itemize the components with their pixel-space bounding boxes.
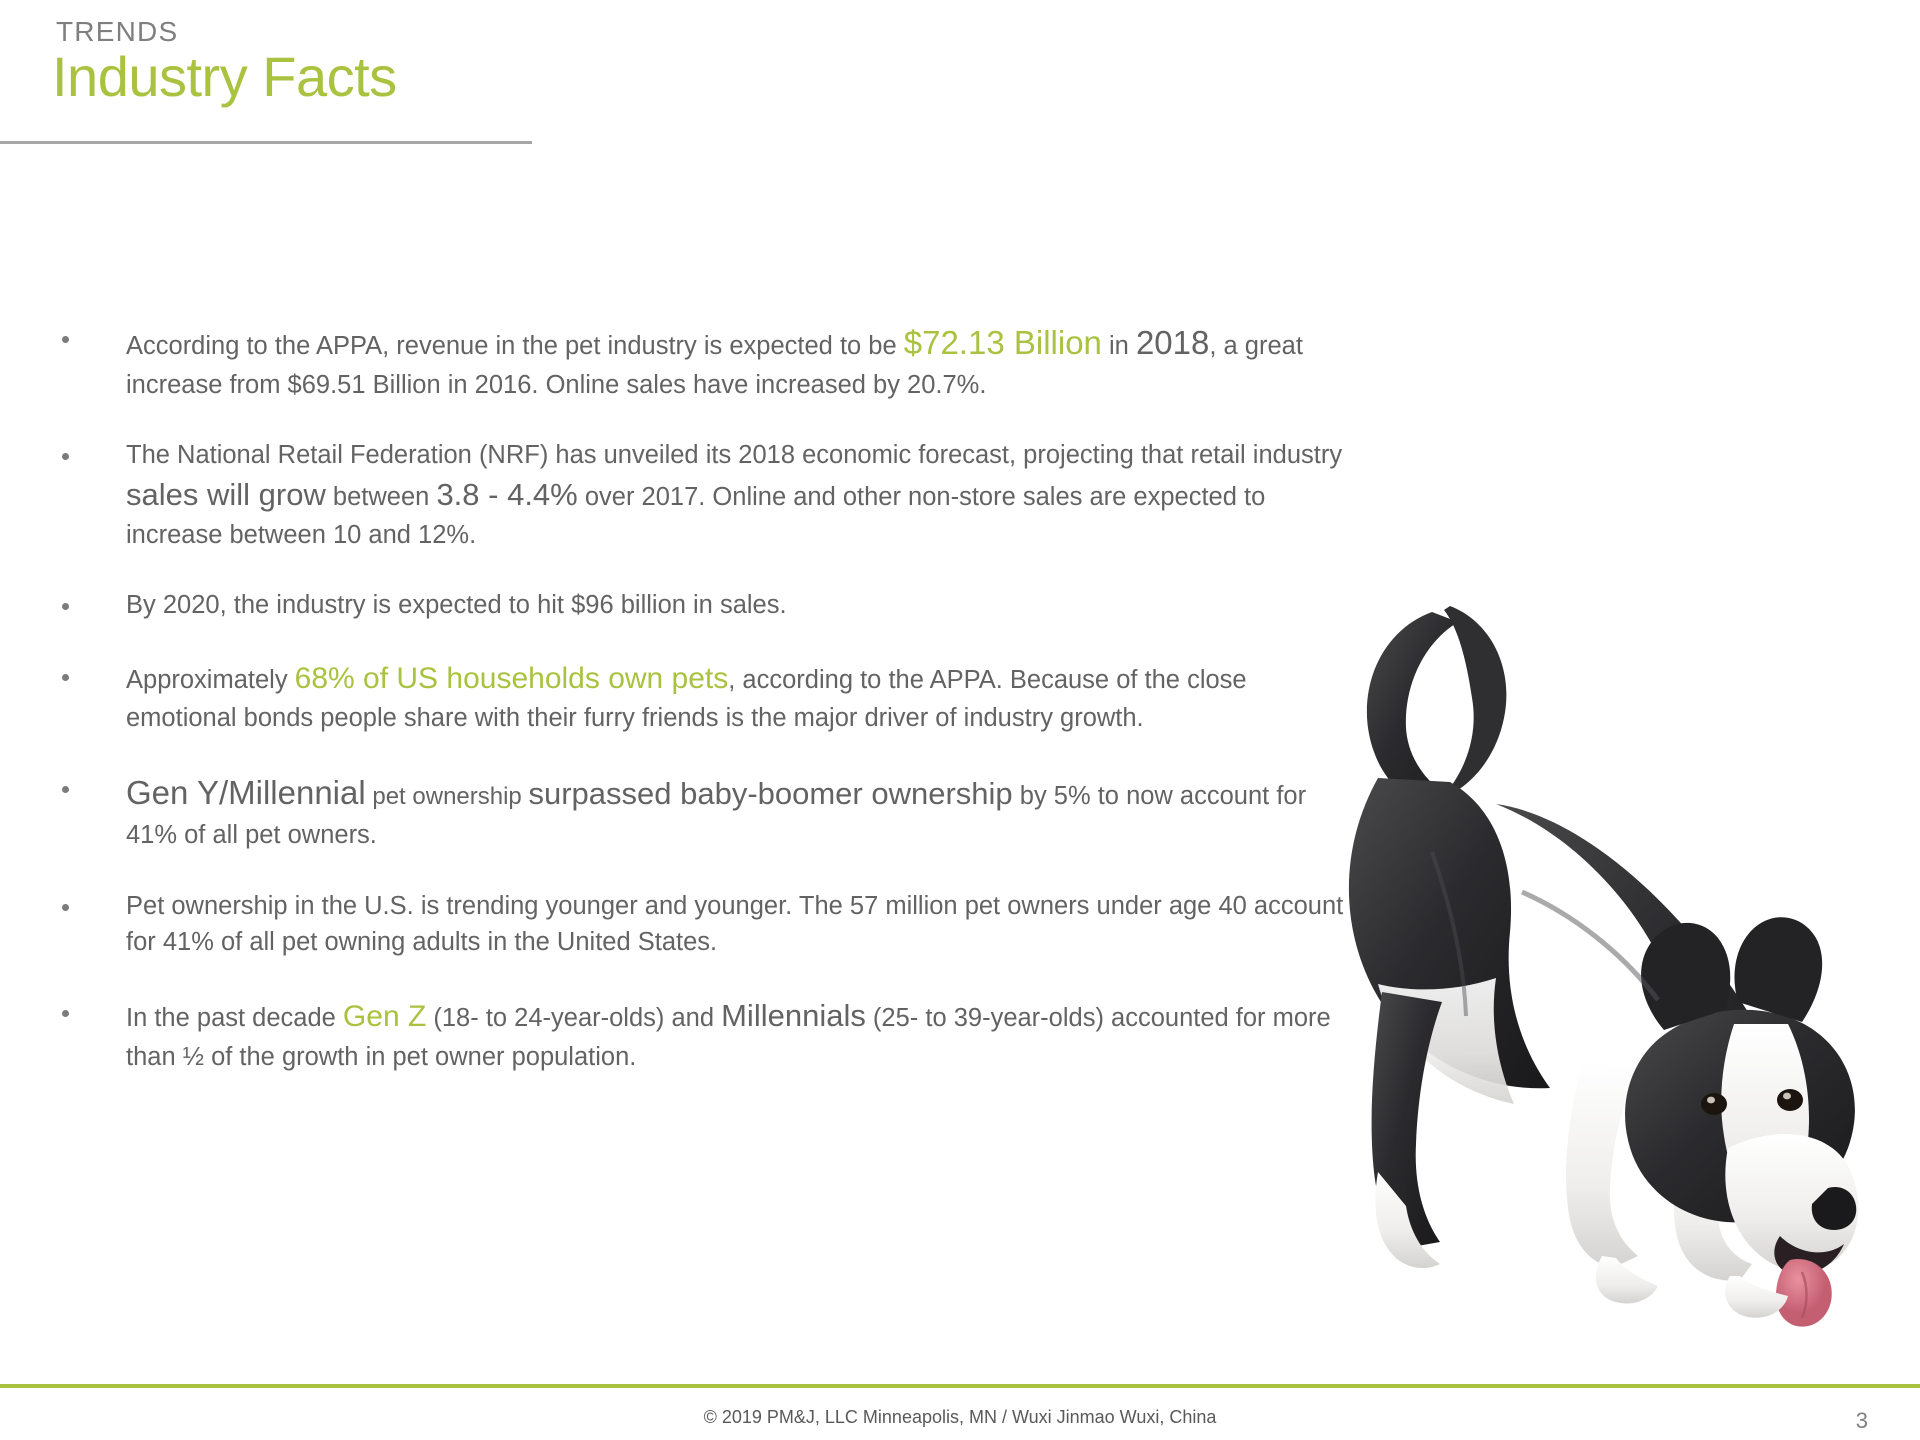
bullet-appa-revenue: According to the APPA, revenue in the pe… xyxy=(0,320,1360,403)
bullet-nrf-forecast-span-3: 3.8 - 4.4% xyxy=(436,477,577,512)
bullet-household-ownership: Approximately 68% of US households own p… xyxy=(0,658,1360,737)
dog-hindquarters xyxy=(1349,778,1550,1088)
bullet-millennial-ownership-span-2: surpassed baby-boomer ownership xyxy=(528,776,1012,811)
bullet-nrf-forecast: The National Retail Federation (NRF) has… xyxy=(0,437,1360,553)
bullet-younger-owners: Pet ownership in the U.S. is trending yo… xyxy=(0,888,1360,960)
dog-ear-left xyxy=(1641,923,1730,1030)
dog-paw-right xyxy=(1725,1276,1788,1318)
dog-tail xyxy=(1367,612,1468,809)
dog-rear-paw xyxy=(1375,1172,1440,1268)
dog-ear-right xyxy=(1734,917,1822,1022)
bullet-millennial-ownership-span-1: pet ownership xyxy=(366,783,529,810)
dog-mouth xyxy=(1774,1236,1844,1274)
page-number: 3 xyxy=(1856,1408,1868,1434)
dog-photo xyxy=(1282,592,1902,1352)
bullet-list: According to the APPA, revenue in the pe… xyxy=(0,320,1360,1109)
footer-divider xyxy=(0,1384,1920,1388)
bullet-appa-revenue-span-1: $72.13 Billion xyxy=(904,324,1102,361)
dog-chest xyxy=(1634,1060,1784,1214)
footer-copyright: © 2019 PM&J, LLC Minneapolis, MN / Wuxi … xyxy=(0,1407,1920,1428)
dog-face-blaze xyxy=(1721,1024,1809,1224)
dog-head xyxy=(1625,1010,1855,1223)
dog-rear-leg xyxy=(1372,992,1442,1248)
bullet-genz-millennials-growth-span-1: Gen Z xyxy=(343,1000,426,1033)
bullet-nrf-forecast-span-1: sales will grow xyxy=(126,477,326,512)
bullet-appa-revenue-span-0: According to the APPA, revenue in the pe… xyxy=(126,332,904,360)
dog-eye-left xyxy=(1701,1093,1727,1115)
dog-tongue xyxy=(1776,1259,1832,1327)
bullet-nrf-forecast-span-2: between xyxy=(326,483,437,511)
bullet-appa-revenue-span-2: in xyxy=(1102,332,1136,360)
dog-nose xyxy=(1812,1187,1857,1230)
bullet-appa-revenue-span-3: 2018 xyxy=(1136,324,1209,361)
bullet-genz-millennials-growth-span-3: Millennials xyxy=(721,998,866,1033)
dog-front-leg-left xyxy=(1566,1062,1638,1268)
dog-paw-left xyxy=(1596,1256,1658,1304)
bullet-2020-sales-span-0: By 2020, the industry is expected to hit… xyxy=(126,591,787,619)
bullet-household-ownership-span-0: Approximately xyxy=(126,666,295,694)
dog-front-leg-right xyxy=(1674,1138,1752,1281)
bullet-household-ownership-span-1: 68% of US households own pets xyxy=(295,662,729,695)
bullet-millennial-ownership-span-0: Gen Y/Millennial xyxy=(126,774,366,811)
page-title: Industry Facts xyxy=(52,44,397,109)
bullet-genz-millennials-growth-span-2: (18- to 24-year-olds) and xyxy=(426,1004,721,1032)
title-divider xyxy=(0,141,532,144)
bullet-younger-owners-span-0: Pet ownership in the U.S. is trending yo… xyxy=(126,892,1343,956)
bullet-nrf-forecast-span-0: The National Retail Federation (NRF) has… xyxy=(126,441,1342,469)
bullet-2020-sales: By 2020, the industry is expected to hit… xyxy=(0,587,1360,623)
dog-muzzle xyxy=(1725,1134,1858,1271)
dog-eye-right xyxy=(1777,1089,1803,1111)
bullet-genz-millennials-growth-span-0: In the past decade xyxy=(126,1004,343,1032)
dog-back xyxy=(1496,804,1822,1184)
bullet-millennial-ownership: Gen Y/Millennial pet ownership surpassed… xyxy=(0,770,1360,853)
bullet-genz-millennials-growth: In the past decade Gen Z (18- to 24-year… xyxy=(0,994,1360,1075)
